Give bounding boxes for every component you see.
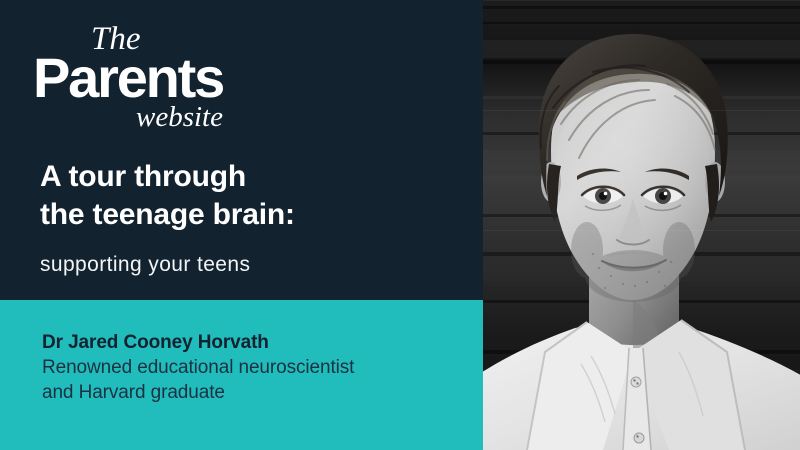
speaker-name: Dr Jared Cooney Horvath: [42, 330, 472, 355]
speaker-description-line-1: Renowned educational neuroscientist: [42, 355, 472, 380]
slide-title: A tour through the teenage brain:: [40, 158, 460, 234]
speaker-info: Dr Jared Cooney Horvath Renowned educati…: [42, 330, 472, 405]
title-line-2: the teenage brain:: [40, 196, 460, 234]
brand-logo[interactable]: The Parents website: [33, 22, 263, 127]
speaker-portrait-photo: [483, 0, 800, 450]
left-content-column: The Parents website A tour through the t…: [0, 0, 483, 450]
portrait-illustration: [483, 0, 800, 450]
speaker-description-line-2: and Harvard graduate: [42, 380, 472, 405]
title-line-1: A tour through: [40, 158, 460, 196]
presentation-slide: The Parents website A tour through the t…: [0, 0, 800, 450]
logo-word-website: website: [136, 102, 223, 132]
logo-word-parents: Parents: [33, 50, 223, 106]
slide-subtitle: supporting your teens: [40, 252, 250, 278]
